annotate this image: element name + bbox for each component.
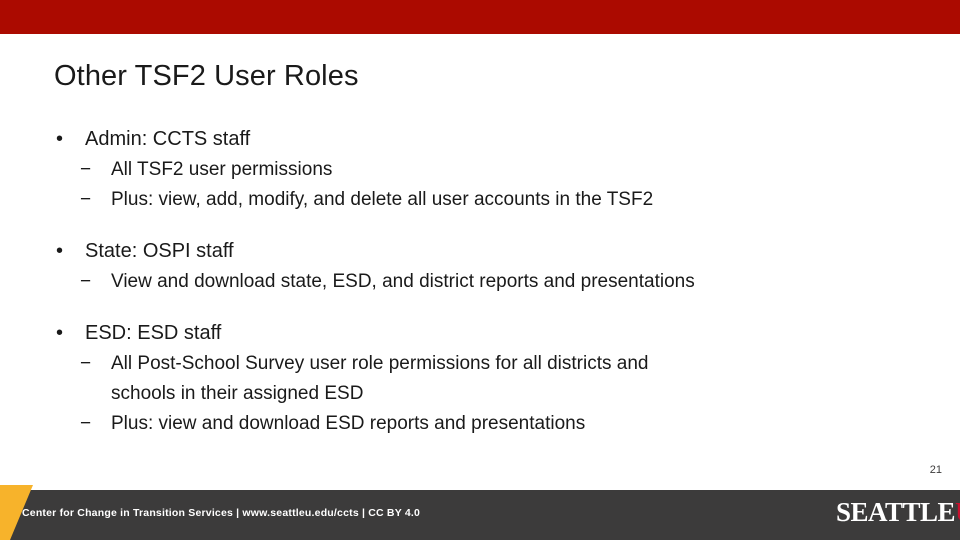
bullet-level2-label: View and download state, ESD, and distri… (111, 271, 695, 292)
top-red-band (0, 0, 960, 34)
bullet-level2: − All TSF2 user permissions (50, 155, 930, 185)
bullet-dash-icon: − (80, 267, 91, 297)
bullet-group: • ESD: ESD staff − All Post-School Surve… (50, 318, 930, 439)
bullet-level2: − All Post-School Survey user role permi… (50, 349, 930, 409)
bullet-level2: − Plus: view, add, modify, and delete al… (50, 185, 930, 215)
bullet-level1: • State: OSPI staff (50, 236, 930, 266)
bullet-level1-label: Admin: CCTS staff (85, 128, 250, 150)
slide-canvas: Other TSF2 User Roles • Admin: CCTS staf… (0, 0, 960, 540)
bullet-dot-icon: • (56, 124, 63, 154)
group-spacer (50, 305, 930, 318)
bullet-level1-label: ESD: ESD staff (85, 322, 221, 344)
bullet-dash-icon: − (80, 349, 91, 379)
bullet-level1-label: State: OSPI staff (85, 240, 234, 262)
bullet-level1: • Admin: CCTS staff (50, 124, 930, 154)
bullet-level2: − Plus: view and download ESD reports an… (50, 409, 930, 439)
bullet-content: • Admin: CCTS staff − All TSF2 user perm… (50, 124, 930, 447)
bullet-group: • State: OSPI staff − View and download … (50, 236, 930, 297)
bullet-dot-icon: • (56, 236, 63, 266)
logo-accent-text: U (955, 499, 960, 525)
bullet-level2: − View and download state, ESD, and dist… (50, 267, 930, 297)
bullet-level1: • ESD: ESD staff (50, 318, 930, 348)
group-spacer (50, 223, 930, 236)
bullet-dash-icon: − (80, 185, 91, 215)
bullet-dash-icon: − (80, 155, 91, 185)
bullet-level2-label: Plus: view, add, modify, and delete all … (111, 189, 653, 210)
seattle-u-logo: SEATTLEU (836, 499, 960, 525)
bullet-dot-icon: • (56, 318, 63, 348)
bullet-group: • Admin: CCTS staff − All TSF2 user perm… (50, 124, 930, 215)
footer-credit-text: Center for Change in Transition Services… (22, 505, 420, 521)
bullet-level2-label: All TSF2 user permissions (111, 159, 332, 180)
bullet-dash-icon: − (80, 409, 91, 439)
logo-primary-text: SEATTLE (836, 499, 955, 525)
bullet-level2-label: All Post-School Survey user role permiss… (111, 353, 648, 374)
bullet-level2-wrap-line: schools in their assigned ESD (111, 379, 930, 409)
page-title: Other TSF2 User Roles (54, 58, 914, 94)
bullet-level2-label: Plus: view and download ESD reports and … (111, 413, 585, 434)
page-number: 21 (930, 463, 942, 477)
